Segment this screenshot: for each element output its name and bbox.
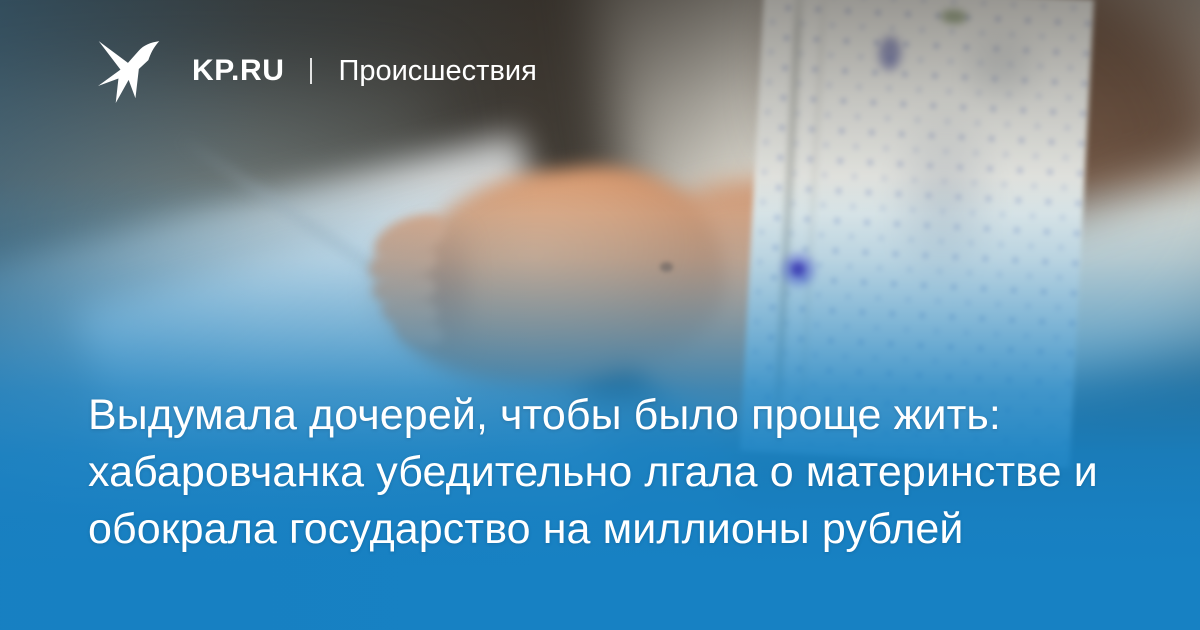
brand-lockup: KP.RU Происшествия bbox=[192, 56, 537, 86]
brand-name[interactable]: KP.RU bbox=[192, 56, 284, 86]
photo-cloth-smudge bbox=[879, 98, 1009, 294]
photo-skin-speck bbox=[660, 262, 673, 272]
swallow-bird-logo-icon[interactable] bbox=[96, 37, 164, 105]
brand-header: KP.RU Происшествия bbox=[96, 36, 537, 106]
brand-separator bbox=[310, 58, 312, 84]
headline-title: Выдумала дочерей, чтобы было проще жить:… bbox=[88, 387, 1120, 558]
brand-section-label[interactable]: Происшествия bbox=[338, 57, 536, 86]
photo-cloth-smudge-2 bbox=[954, 20, 1049, 115]
social-share-card: KP.RU Происшествия Выдумала дочерей, что… bbox=[0, 0, 1200, 630]
